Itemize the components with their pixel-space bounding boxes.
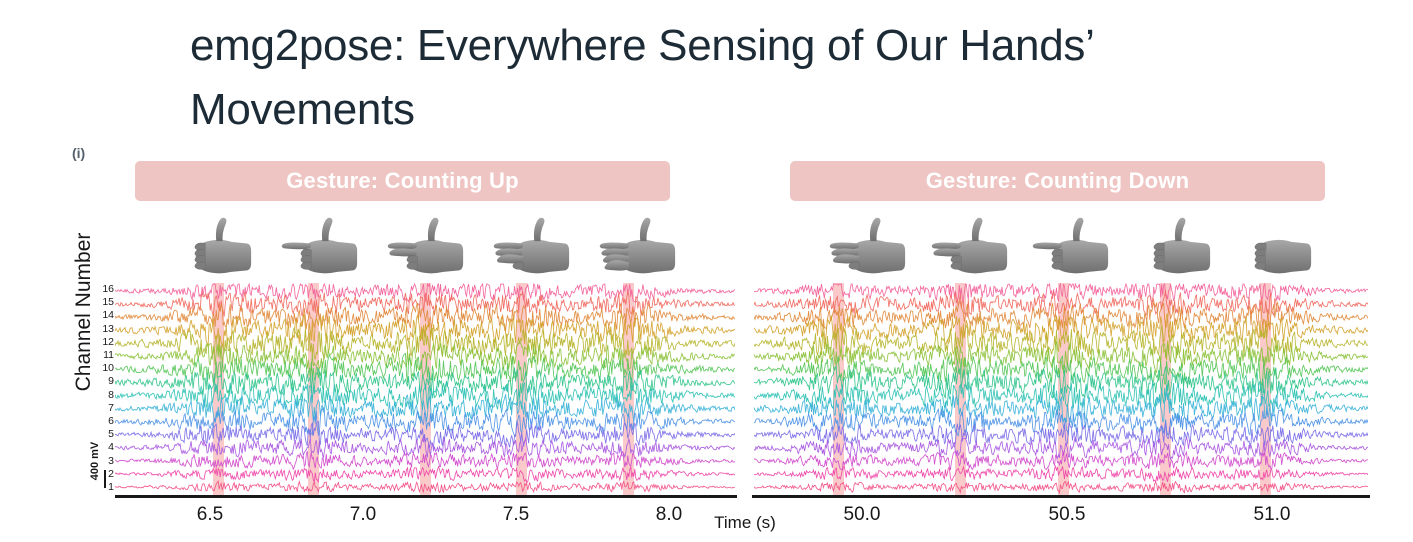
hand-pose-fist [1228,215,1312,283]
emg-channel-9 [754,367,1368,398]
x-tick-7.0: 7.0 [350,504,376,526]
y-tick-15: 15 [102,296,114,308]
hand-pose-1-finger [168,215,252,283]
y-axis-label: Channel Number [72,222,96,402]
y-axis-ticks: 16151413121110987654321 [96,283,114,495]
x-tick-51.0: 51.0 [1254,504,1291,526]
x-tick-6.5: 6.5 [197,504,223,526]
x-axis-label: Time (s) [714,513,776,533]
hand-pose-3-fingers [924,215,1008,283]
y-tick-14: 14 [102,309,114,321]
hand-pose-2-fingers [274,215,358,283]
emg-channel-2 [115,467,735,482]
y-tick-5: 5 [108,428,114,440]
y-tick-11: 11 [103,349,114,361]
emg-channel-3 [115,451,735,469]
emg-channel-5 [754,423,1368,447]
hand-pose-row-left [168,213,676,283]
emg-traces [115,283,735,495]
y-tick-4: 4 [108,441,114,453]
y-tick-2: 2 [108,468,114,480]
hand-pose-4-fingers [822,215,906,283]
emg-channel-1 [754,481,1368,493]
y-tick-9: 9 [108,375,114,387]
emg-traces [754,283,1368,495]
emg-channel-3 [754,451,1368,470]
x-tick-50.0: 50.0 [844,504,881,526]
emg-channel-2 [754,466,1368,482]
y-tick-16: 16 [102,283,114,295]
emg-panel-left [115,283,735,495]
y-tick-10: 10 [102,362,114,374]
y-tick-3: 3 [108,455,114,467]
gesture-banner-right: Gesture: Counting Down [790,161,1325,201]
page-title: emg2pose: Everywhere Sensing of Our Hand… [190,14,1200,142]
hand-pose-5-fingers [592,215,676,283]
hand-pose-1-finger [1127,215,1211,283]
y-tick-7: 7 [108,402,114,414]
y-tick-12: 12 [102,336,114,348]
y-tick-1: 1 [108,481,114,493]
y-tick-8: 8 [108,389,114,401]
y-tick-6: 6 [108,415,114,427]
y-tick-13: 13 [102,323,114,335]
emg-channel-4 [115,437,735,458]
emg-channel-1 [115,481,735,492]
x-axis-line-right [752,495,1370,498]
hand-pose-row-right [822,213,1312,283]
emg-channel-11 [115,342,735,371]
panel-label: (i) [72,145,85,161]
gesture-banner-left: Gesture: Counting Up [135,161,670,201]
x-tick-7.5: 7.5 [503,504,529,526]
hand-pose-4-fingers [486,215,570,283]
hand-pose-3-fingers [380,215,464,283]
emg-channel-16 [754,284,1368,302]
x-tick-50.5: 50.5 [1049,504,1086,526]
x-tick-8.0: 8.0 [656,504,682,526]
hand-pose-2-fingers [1025,215,1109,283]
emg-panel-right [754,283,1368,495]
x-axis-line-left [115,495,737,498]
